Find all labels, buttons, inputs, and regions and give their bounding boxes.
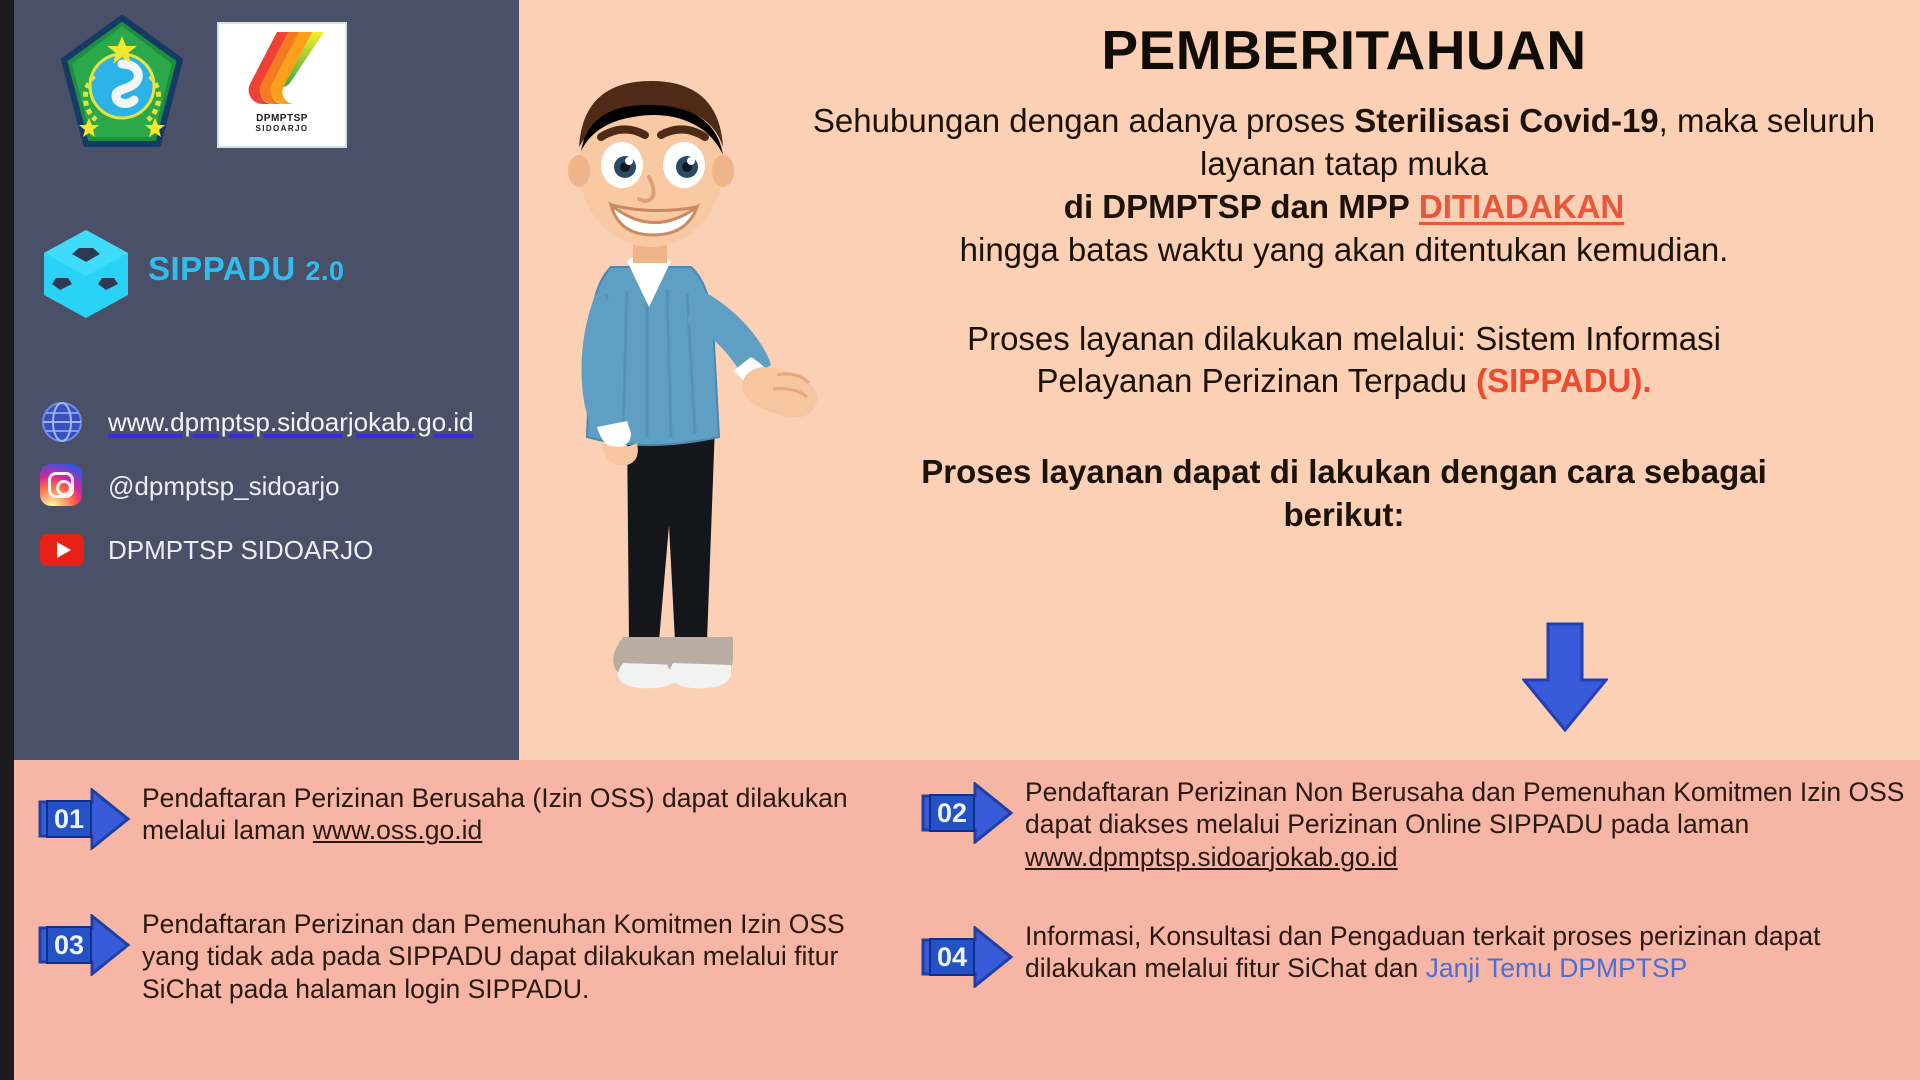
youtube-channel[interactable]: DPMPTSP SIDOARJO [108,535,373,566]
p1-bold-sterilisasi: Sterilisasi Covid-19 [1354,102,1658,139]
globe-icon [40,400,84,444]
step-02-link[interactable]: www.dpmptsp.sidoarjokab.go.id [1025,842,1398,872]
notice-paragraph-1: Sehubungan dengan adanya proses Sterilis… [799,100,1889,272]
dpmptsp-mark-icon [236,28,328,112]
sidebar-panel: DPMPTSP SIDOARJO SIPPADU 2.0 [14,0,519,760]
contact-list: www.dpmptsp.sidoarjokab.go.id @dpmptsp_s… [28,390,508,582]
sippadu-brand: SIPPADU 2.0 [38,226,478,322]
step-item-01[interactable]: 01 Pendaftaran Perizinan Berusaha (Izin … [36,782,876,850]
step-item-03[interactable]: 03 Pendaftaran Perizinan dan Pemenuhan K… [36,908,876,1005]
step-item-02[interactable]: 02 Pendaftaran Perizinan Non Berusaha da… [919,776,1909,873]
website-link[interactable]: www.dpmptsp.sidoarjokab.go.id [108,407,474,438]
down-arrow-icon [1522,622,1608,732]
dpmptsp-logo-text-line2: SIDOARJO [256,124,309,133]
step-badge-02: 02 [919,782,1015,844]
p2-line2-prefix: Pelayanan Perizinan Terpadu [1036,362,1476,399]
logo-row: DPMPTSP SIDOARJO [52,8,372,168]
page-title: PEMBERITAHUAN [799,18,1889,82]
youtube-icon [40,528,84,572]
step-number-04: 04 [929,938,975,976]
step-badge-04: 04 [919,926,1015,988]
step-badge-03: 03 [36,914,132,976]
step-text-01: Pendaftaran Perizinan Berusaha (Izin OSS… [142,782,876,847]
step-04-text: Informasi, Konsultasi dan Pengaduan terk… [1025,921,1821,983]
step-badge-01: 01 [36,788,132,850]
upper-section: DPMPTSP SIDOARJO SIPPADU 2.0 [14,0,1920,760]
instagram-handle[interactable]: @dpmptsp_sidoarjo [108,471,340,502]
p1-part3: hingga batas waktu yang akan ditentukan … [960,231,1729,268]
sippadu-cube-icon [38,226,134,322]
step-item-04[interactable]: 04 Informasi, Konsultasi dan Pengaduan t… [919,920,1909,988]
contact-row-instagram[interactable]: @dpmptsp_sidoarjo [28,454,508,518]
notice-paragraph-3: Proses layanan dapat di lakukan dengan c… [799,451,1889,537]
step-01-link[interactable]: www.oss.go.id [313,815,482,845]
sippadu-name: SIPPADU [148,250,296,287]
dpmptsp-logo-text-line1: DPMPTSP [256,113,308,124]
step-text-03: Pendaftaran Perizinan dan Pemenuhan Komi… [142,908,876,1005]
sippadu-version: 2.0 [305,256,344,286]
p2-line1: Proses layanan dilakukan melalui: Sistem… [967,320,1721,357]
p3-line1: Proses layanan dapat di lakukan dengan c… [921,453,1767,490]
dpmptsp-logo: DPMPTSP SIDOARJO [217,22,347,148]
step-02-text: Pendaftaran Perizinan Non Berusaha dan P… [1025,777,1904,839]
step-number-01: 01 [46,800,92,838]
notice-paragraph-2: Proses layanan dilakukan melalui: Sistem… [799,318,1889,404]
step-number-03: 03 [46,926,92,964]
step-number-02: 02 [929,794,975,832]
step-text-04: Informasi, Konsultasi dan Pengaduan terk… [1025,920,1909,985]
status-badge-ditiadakan: DITIADAKAN [1419,188,1624,225]
contact-row-youtube[interactable]: DPMPTSP SIDOARJO [28,518,508,582]
sidoarjo-regency-emblem-icon [52,14,192,164]
sippadu-brand-label: SIPPADU 2.0 [148,250,344,288]
steps-panel: 01 Pendaftaran Perizinan Berusaha (Izin … [14,760,1920,1080]
step-01-text: Pendaftaran Perizinan Berusaha (Izin OSS… [142,783,848,845]
instagram-icon [40,464,84,508]
step-04-highlight[interactable]: Janji Temu DPMPTSP [1426,953,1688,983]
notice-panel: PEMBERITAHUAN Sehubungan dengan adanya p… [519,0,1920,760]
notice-text-block: PEMBERITAHUAN Sehubungan dengan adanya p… [799,18,1889,537]
step-text-02: Pendaftaran Perizinan Non Berusaha dan P… [1025,776,1909,873]
step-03-text: Pendaftaran Perizinan dan Pemenuhan Komi… [142,909,845,1004]
p1-part1: Sehubungan dengan adanya proses [813,102,1354,139]
contact-row-website[interactable]: www.dpmptsp.sidoarjokab.go.id [28,390,508,454]
p3-line2: berikut: [1283,496,1404,533]
p2-sippadu-highlight: (SIPPADU). [1476,362,1651,399]
p1-bold-dpmptsp: di DPMPTSP dan MPP [1064,188,1410,225]
poster-canvas: DPMPTSP SIDOARJO SIPPADU 2.0 [0,0,1920,1080]
